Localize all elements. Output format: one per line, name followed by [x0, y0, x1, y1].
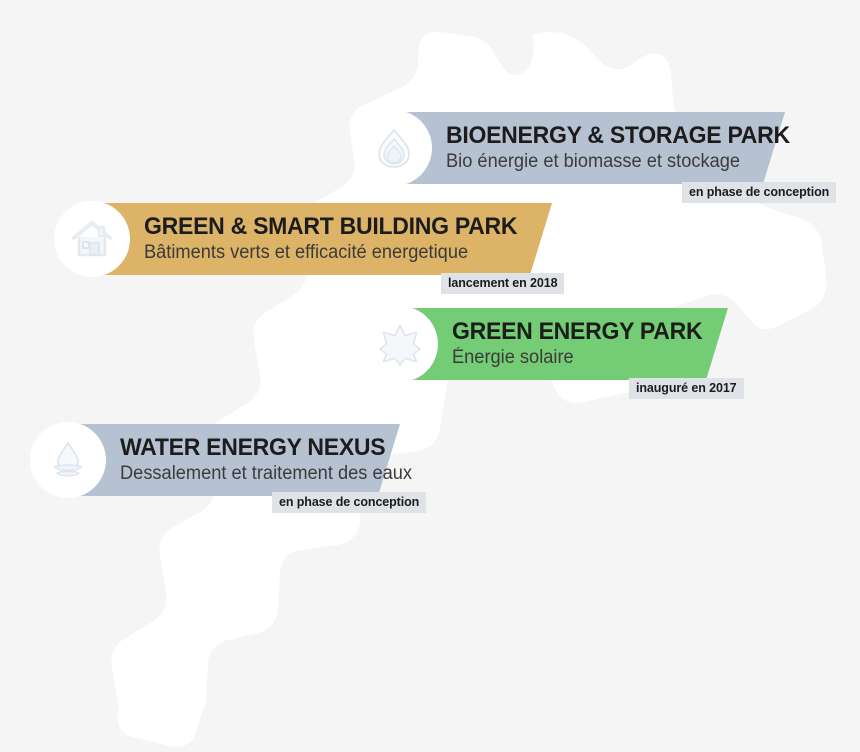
- status-badge-water-nexus: en phase de conception: [272, 492, 426, 513]
- status-badge-green-energy: inauguré en 2017: [629, 378, 744, 399]
- banner-title: WATER ENERGY NEXUS: [120, 435, 412, 461]
- banner-text-green-energy: GREEN ENERGY PARK Énergie solaire: [452, 308, 713, 380]
- banner-text-green-building: GREEN & SMART BUILDING PARK Bâtiments ve…: [144, 203, 533, 275]
- water-drop-icon: [45, 437, 91, 483]
- infographic-stage: BIOENERGY & STORAGE PARK Bio énergie et …: [0, 0, 860, 752]
- banner-green-smart-building-park[interactable]: GREEN & SMART BUILDING PARK Bâtiments ve…: [58, 203, 566, 275]
- icon-disc-bioenergy: [356, 110, 432, 186]
- banner-subtitle: Dessalement et traitement des eaux: [120, 463, 412, 486]
- house-icon: [69, 216, 115, 262]
- map-shape-lower: [118, 700, 204, 747]
- banner-title: GREEN ENERGY PARK: [452, 319, 702, 345]
- banner-water-energy-nexus[interactable]: WATER ENERGY NEXUS Dessalement et traite…: [34, 424, 414, 496]
- status-badge-green-building: lancement en 2018: [441, 273, 564, 294]
- icon-disc-water-nexus: [30, 422, 106, 498]
- banner-subtitle: Bio énergie et biomasse et stockage: [446, 151, 790, 174]
- banner-green-energy-park[interactable]: GREEN ENERGY PARK Énergie solaire: [366, 308, 742, 380]
- icon-disc-green-building: [54, 201, 130, 277]
- banner-text-bioenergy: BIOENERGY & STORAGE PARK Bio énergie et …: [446, 112, 804, 184]
- banner-bioenergy-storage-park[interactable]: BIOENERGY & STORAGE PARK Bio énergie et …: [360, 112, 800, 184]
- banner-title: GREEN & SMART BUILDING PARK: [144, 214, 517, 240]
- banner-title: BIOENERGY & STORAGE PARK: [446, 123, 790, 149]
- banner-text-water-nexus: WATER ENERGY NEXUS Dessalement et traite…: [120, 424, 424, 496]
- status-badge-bioenergy: en phase de conception: [682, 182, 836, 203]
- flame-leaf-icon: [371, 125, 417, 171]
- icon-disc-green-energy: [362, 306, 438, 382]
- banner-subtitle: Bâtiments verts et efficacité energetiqu…: [144, 242, 517, 265]
- sun-star-icon: [377, 321, 423, 367]
- banner-subtitle: Énergie solaire: [452, 347, 702, 370]
